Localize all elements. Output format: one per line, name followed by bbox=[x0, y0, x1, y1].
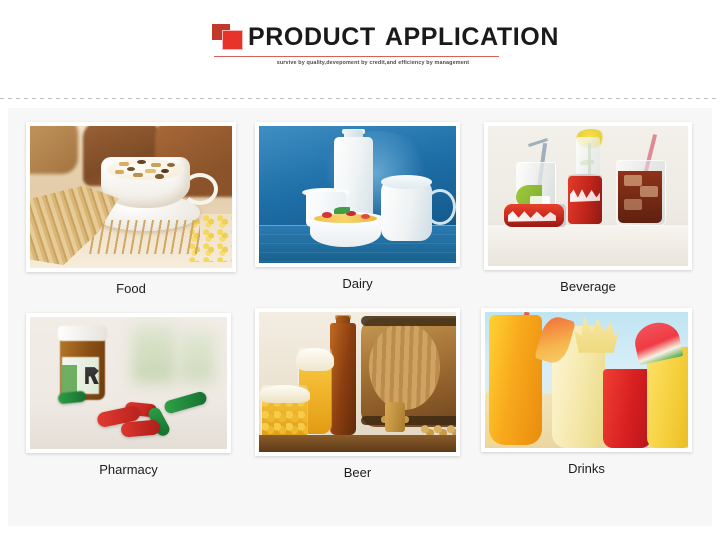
page-title-primary: PRODUCT bbox=[248, 23, 376, 51]
photo-beer bbox=[259, 312, 456, 452]
gallery-item-dairy[interactable]: Dairy bbox=[255, 122, 460, 291]
photo-beverage bbox=[488, 126, 688, 266]
gallery-item-beer[interactable]: Beer bbox=[255, 308, 460, 480]
header-subtitle: survive by quality,devepoment by credit,… bbox=[248, 60, 498, 66]
gallery-label-beer: Beer bbox=[255, 465, 460, 480]
thumbnail-drinks[interactable] bbox=[481, 308, 692, 452]
gallery-label-beverage: Beverage bbox=[484, 279, 692, 294]
gallery-item-beverage[interactable]: Beverage bbox=[484, 122, 692, 294]
thumbnail-dairy[interactable] bbox=[255, 122, 460, 267]
title-row: PRODUCTAPPLICATION bbox=[212, 20, 512, 54]
thumbnail-food[interactable] bbox=[26, 122, 236, 272]
gallery-item-drinks[interactable]: Drinks bbox=[481, 308, 692, 476]
title-block: PRODUCTAPPLICATION survive by quality,de… bbox=[212, 20, 512, 54]
gallery-grid: Food Dairy bbox=[8, 108, 712, 526]
gallery-panel: Food Dairy bbox=[8, 108, 712, 526]
thumbnail-beverage[interactable] bbox=[484, 122, 692, 270]
gallery-label-drinks: Drinks bbox=[481, 461, 692, 476]
photo-pharmacy bbox=[30, 317, 227, 449]
photo-drinks bbox=[485, 312, 688, 448]
title-underline-rule bbox=[214, 56, 499, 57]
logo-square-front-icon bbox=[222, 30, 243, 50]
gallery-label-food: Food bbox=[26, 281, 236, 296]
gallery-label-pharmacy: Pharmacy bbox=[26, 462, 231, 477]
gallery-item-pharmacy[interactable]: Pharmacy bbox=[26, 313, 231, 477]
thumbnail-beer[interactable] bbox=[255, 308, 460, 456]
gallery-item-food[interactable]: Food bbox=[26, 122, 236, 296]
photo-dairy bbox=[259, 126, 456, 263]
page-title: PRODUCTAPPLICATION bbox=[248, 23, 559, 52]
page-title-secondary: APPLICATION bbox=[385, 23, 559, 51]
slide-root: PRODUCTAPPLICATION survive by quality,de… bbox=[0, 0, 720, 542]
photo-food bbox=[30, 126, 232, 268]
header-dashed-divider bbox=[0, 98, 720, 99]
slide-header: PRODUCTAPPLICATION survive by quality,de… bbox=[0, 0, 720, 95]
thumbnail-pharmacy[interactable] bbox=[26, 313, 231, 453]
two-red-squares-logo-icon bbox=[212, 22, 248, 52]
gallery-label-dairy: Dairy bbox=[255, 276, 460, 291]
